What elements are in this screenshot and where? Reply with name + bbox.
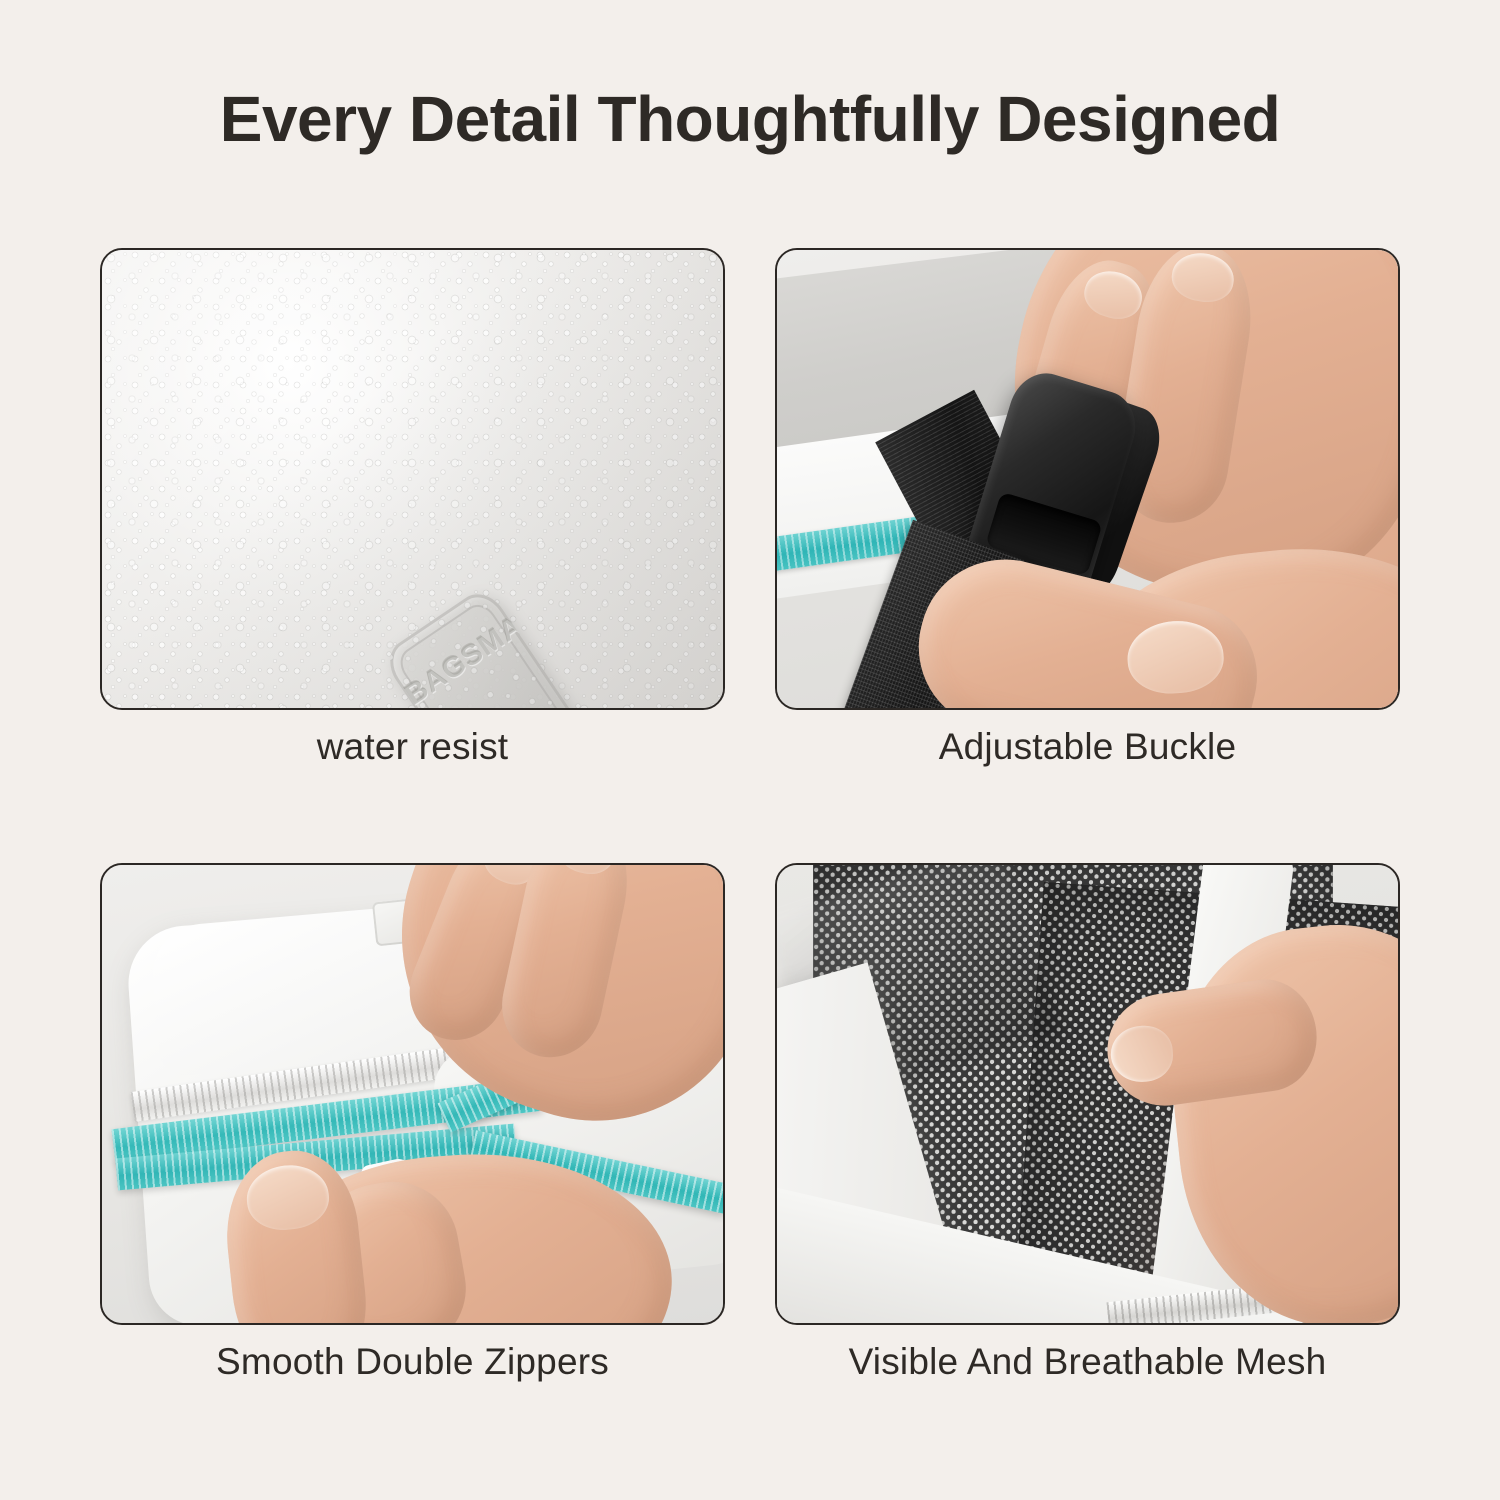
thumbnail (1125, 618, 1226, 697)
fingernail (555, 863, 619, 879)
feature-image-visible-breathable-mesh[interactable] (775, 863, 1400, 1325)
fingernail (1169, 249, 1238, 306)
thumbnail (244, 1161, 332, 1233)
feature-card-adjustable-buckle[interactable]: BAG (775, 248, 1400, 710)
feature-card-smooth-double-zippers[interactable]: Smooth Double Zippers (100, 863, 725, 1325)
feature-card-water-resist[interactable]: BAGSMART water resist (100, 248, 725, 710)
feature-caption-visible-breathable-mesh: Visible And Breathable Mesh (775, 1341, 1400, 1383)
feature-caption-water-resist: water resist (100, 726, 725, 768)
feature-caption-adjustable-buckle: Adjustable Buckle (775, 726, 1400, 768)
feature-grid: BAGSMART water resist BAG (100, 248, 1400, 1408)
infographic-page: Every Detail Thoughtfully Designed BAGSM… (0, 0, 1500, 1500)
lighting-overlay (102, 250, 723, 708)
feature-image-water-resist[interactable]: BAGSMART (100, 248, 725, 710)
fingernail (1109, 1024, 1175, 1084)
page-title: Every Detail Thoughtfully Designed (0, 82, 1500, 156)
feature-caption-smooth-double-zippers: Smooth Double Zippers (100, 1341, 725, 1383)
fingernail (1079, 265, 1147, 325)
feature-image-adjustable-buckle[interactable]: BAG (775, 248, 1400, 710)
feature-image-smooth-double-zippers[interactable] (100, 863, 725, 1325)
feature-card-visible-breathable-mesh[interactable]: Visible And Breathable Mesh (775, 863, 1400, 1325)
